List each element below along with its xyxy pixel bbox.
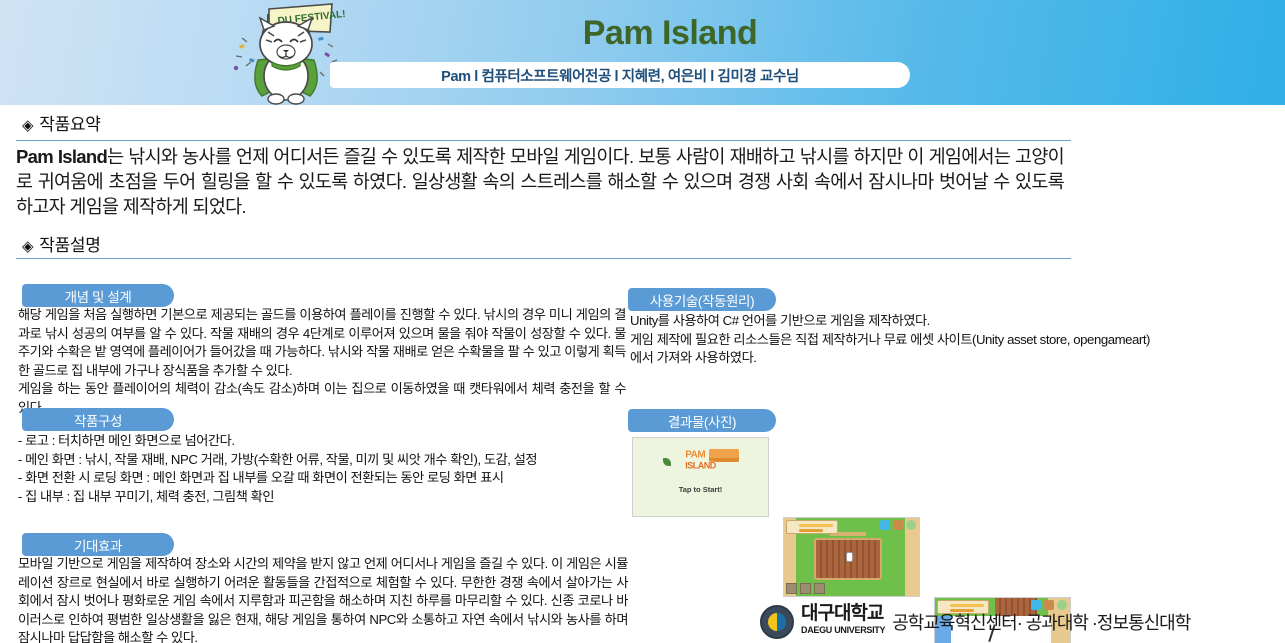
mascot-tiger-icon: DU FESTIVAL!: [206, 0, 366, 112]
tool-slot-1: [786, 583, 797, 594]
gear-icon: [906, 520, 916, 530]
section-heading-description: ◈작품설명: [22, 231, 101, 256]
tool-slot-2: [800, 583, 811, 594]
summary-paragraph: Pam Island는 낚시와 농사를 언제 어디서든 즐길 수 있도록 제작한…: [16, 144, 1064, 219]
screenshot-grid: PAM ISLAND Tap to Start!: [632, 437, 1236, 611]
text-concept-design: 해당 게임을 처음 실행하면 기본으로 제공되는 골드를 이용하여 플레이를 진…: [18, 306, 626, 418]
logo-leaf-icon: [663, 458, 671, 466]
daegu-university-seal-icon: [760, 605, 794, 639]
header-subtitle-bar: Pam l 컴퓨터소프트웨어전공 l 지혜련, 여은비 l 김미경 교수님: [330, 62, 910, 88]
badge-results-photos: 결과물(사진): [628, 409, 776, 432]
tool-slot-3: [814, 583, 825, 594]
summary-heading-label: 작품요약: [39, 115, 100, 134]
department-list: 공학교육혁신센터· 공과대학 ·정보통신대학: [892, 609, 1190, 635]
poster-header: DU FESTIVAL!: [0, 0, 1285, 105]
badge-concept-design: 개념 및 설계: [22, 284, 174, 307]
screenshot-farm-field: [783, 517, 920, 597]
text-technology: Unity를 사용하여 C# 언어를 기반으로 게임을 제작하였다. 게임 제작…: [630, 312, 1150, 368]
badge-technology: 사용기술(작동원리): [628, 288, 776, 311]
poster-root: DU FESTIVAL!: [0, 0, 1285, 643]
university-name-block: 대구대학교 DAEGU UNIVERSITY: [801, 605, 885, 639]
description-heading-label: 작품설명: [39, 236, 100, 255]
gold-hud: [786, 520, 838, 534]
university-name-ko: 대구대학교: [801, 603, 883, 624]
game-logo: PAM ISLAND: [685, 449, 716, 470]
hud-icon-row: [880, 520, 916, 530]
book-icon: [893, 520, 903, 530]
game-logo-line1: PAM: [685, 449, 705, 460]
diamond-bullet-icon-2: ◈: [22, 238, 33, 255]
footer-logo-bar: 대구대학교 DAEGU UNIVERSITY 공학교육혁신센터· 공과대학 ·정…: [760, 602, 1280, 642]
badge-expected-effect: 기대효과: [22, 533, 174, 556]
university-name-en: DAEGU UNIVERSITY: [801, 622, 885, 639]
section-heading-summary: ◈작품요약: [22, 110, 101, 135]
tap-to-start-label: Tap to Start!: [633, 485, 768, 494]
divider-mid: [16, 258, 1071, 259]
header-subtitle: Pam l 컴퓨터소프트웨어전공 l 지혜련, 여은비 l 김미경 교수님: [441, 65, 799, 86]
divider-top: [16, 140, 1071, 141]
summary-strong-title: Pam Island: [16, 146, 107, 167]
diamond-bullet-icon: ◈: [22, 117, 33, 134]
screenshot-title-screen: PAM ISLAND Tap to Start!: [632, 437, 769, 517]
summary-body-text: 는 낚시와 농사를 언제 어디서든 즐길 수 있도록 제작한 모바일 게임이다.…: [16, 146, 1064, 217]
text-expected-effect: 모바일 기반으로 게임을 제작하여 장소와 시간의 제약을 받지 않고 언제 어…: [18, 555, 628, 643]
bag-icon: [880, 520, 890, 530]
player-cat-sprite: [846, 552, 853, 562]
page-title: Pam Island: [410, 14, 930, 53]
tool-bar: [786, 583, 825, 594]
badge-composition: 작품구성: [22, 408, 174, 431]
game-logo-line2: ISLAND: [685, 460, 716, 470]
text-composition: - 로고 : 터치하면 메인 화면으로 넘어간다. - 메인 화면 : 낚시, …: [18, 432, 634, 506]
